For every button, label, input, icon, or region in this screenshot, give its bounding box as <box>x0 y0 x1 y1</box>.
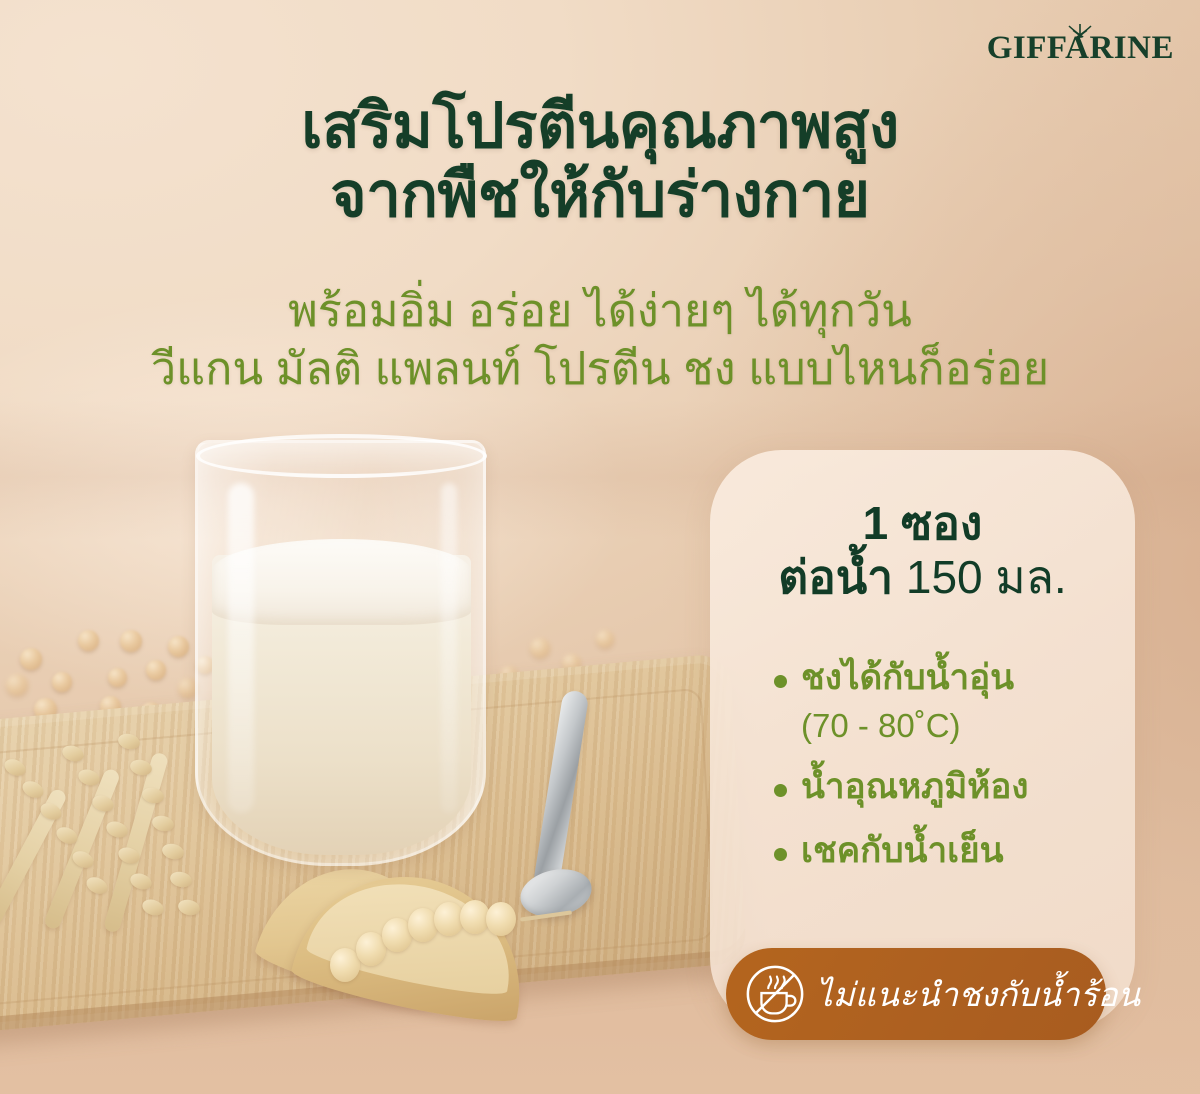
bullet-sub-1: (70 - 80˚C) <box>801 705 1115 748</box>
logo-wordmark: GIFFARINE <box>987 30 1174 66</box>
bullet-label-2: น้ำอุณหภูมิห้อง <box>801 764 1028 810</box>
page-subtitle: พร้อมอิ่ม อร่อย ได้ง่ายๆ ได้ทุกวัน วีแกน… <box>0 282 1200 397</box>
status-badge: ไม่แนะนำชงกับน้ำร้อน <box>726 948 1106 1040</box>
card-title-line-2-bold: ต่อน้ำ <box>778 551 893 603</box>
bullet-label-3: เชคกับน้ำเย็น <box>801 828 1004 874</box>
page-title: เสริมโปรตีนคุณภาพสูง จากพืชให้กับร่างกาย <box>0 92 1200 231</box>
preparation-info-card: 1 ซอง ต่อน้ำ 150 มล. ชงได้กับน้ำอุ่น (70… <box>710 450 1135 1030</box>
card-title-line-1: 1 ซอง <box>710 498 1135 550</box>
product-photo-scene <box>0 330 760 1094</box>
glass-highlight-right <box>441 483 457 813</box>
bullet-dot-icon <box>774 784 787 797</box>
card-title: 1 ซอง ต่อน้ำ 150 มล. <box>710 498 1135 603</box>
bullet-dot-icon <box>774 675 787 688</box>
glass-of-plant-milk <box>195 440 486 866</box>
headline-line-1: เสริมโปรตีนคุณภาพสูง <box>0 92 1200 161</box>
list-item: น้ำอุณหภูมิห้อง <box>774 764 1115 810</box>
card-title-line-2-light: 150 มล. <box>906 551 1067 603</box>
bullet-spacer <box>774 814 1115 828</box>
list-item: เชคกับน้ำเย็น <box>774 828 1115 874</box>
glass-rim <box>196 434 487 478</box>
giffarine-logo: GIFFARINE <box>987 22 1174 65</box>
list-item: ชงได้กับน้ำอุ่น <box>774 655 1115 701</box>
bullet-label-1: ชงได้กับน้ำอุ่น <box>801 655 1014 701</box>
badge-label: ไม่แนะนำชงกับน้ำร้อน <box>816 968 1140 1021</box>
bullet-dot-icon <box>774 848 787 861</box>
subheadline-line-2: วีแกน มัลติ แพลนท์ โปรตีน ชง แบบไหนก็อร่… <box>0 340 1200 398</box>
preparation-bullet-list: ชงได้กับน้ำอุ่น (70 - 80˚C) น้ำอุณหภูมิห… <box>774 655 1115 878</box>
glass-highlight-left <box>228 483 254 813</box>
card-title-line-2: ต่อน้ำ 150 มล. <box>710 552 1135 604</box>
subheadline-line-1: พร้อมอิ่ม อร่อย ได้ง่ายๆ ได้ทุกวัน <box>0 282 1200 340</box>
headline-line-2: จากพืชให้กับร่างกาย <box>0 161 1200 230</box>
no-hot-drink-icon <box>744 963 806 1025</box>
promo-poster: GIFFARINE เสริมโปรตีนคุณภาพสูง จากพืชให้… <box>0 0 1200 1094</box>
